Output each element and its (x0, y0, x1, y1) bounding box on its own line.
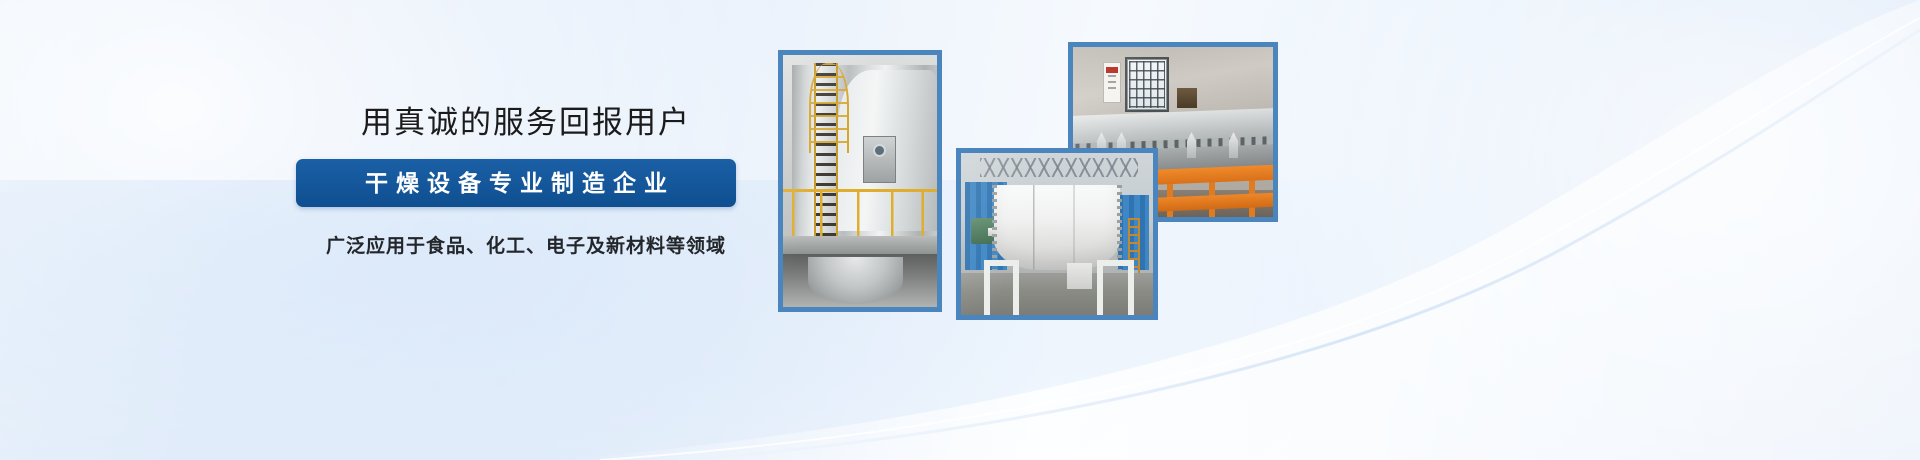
photo-ribbon-mixer-artwork (961, 153, 1153, 315)
hero-subline: 广泛应用于食品、化工、电子及新材料等领域 (296, 231, 756, 258)
hero-headline: 用真诚的服务回报用户 (296, 104, 756, 141)
photo-ribbon-mixer (956, 148, 1158, 320)
photo-spray-dryer-artwork (783, 55, 937, 307)
hero-badge: 干燥设备专业制造企业 (296, 159, 736, 207)
background-glow-right (1240, 0, 1920, 460)
hero-copy-block: 用真诚的服务回报用户 干燥设备专业制造企业 广泛应用于食品、化工、电子及新材料等… (296, 104, 756, 258)
photo-spray-dryer-tower (778, 50, 942, 312)
hero-banner: 用真诚的服务回报用户 干燥设备专业制造企业 广泛应用于食品、化工、电子及新材料等… (0, 0, 1920, 460)
